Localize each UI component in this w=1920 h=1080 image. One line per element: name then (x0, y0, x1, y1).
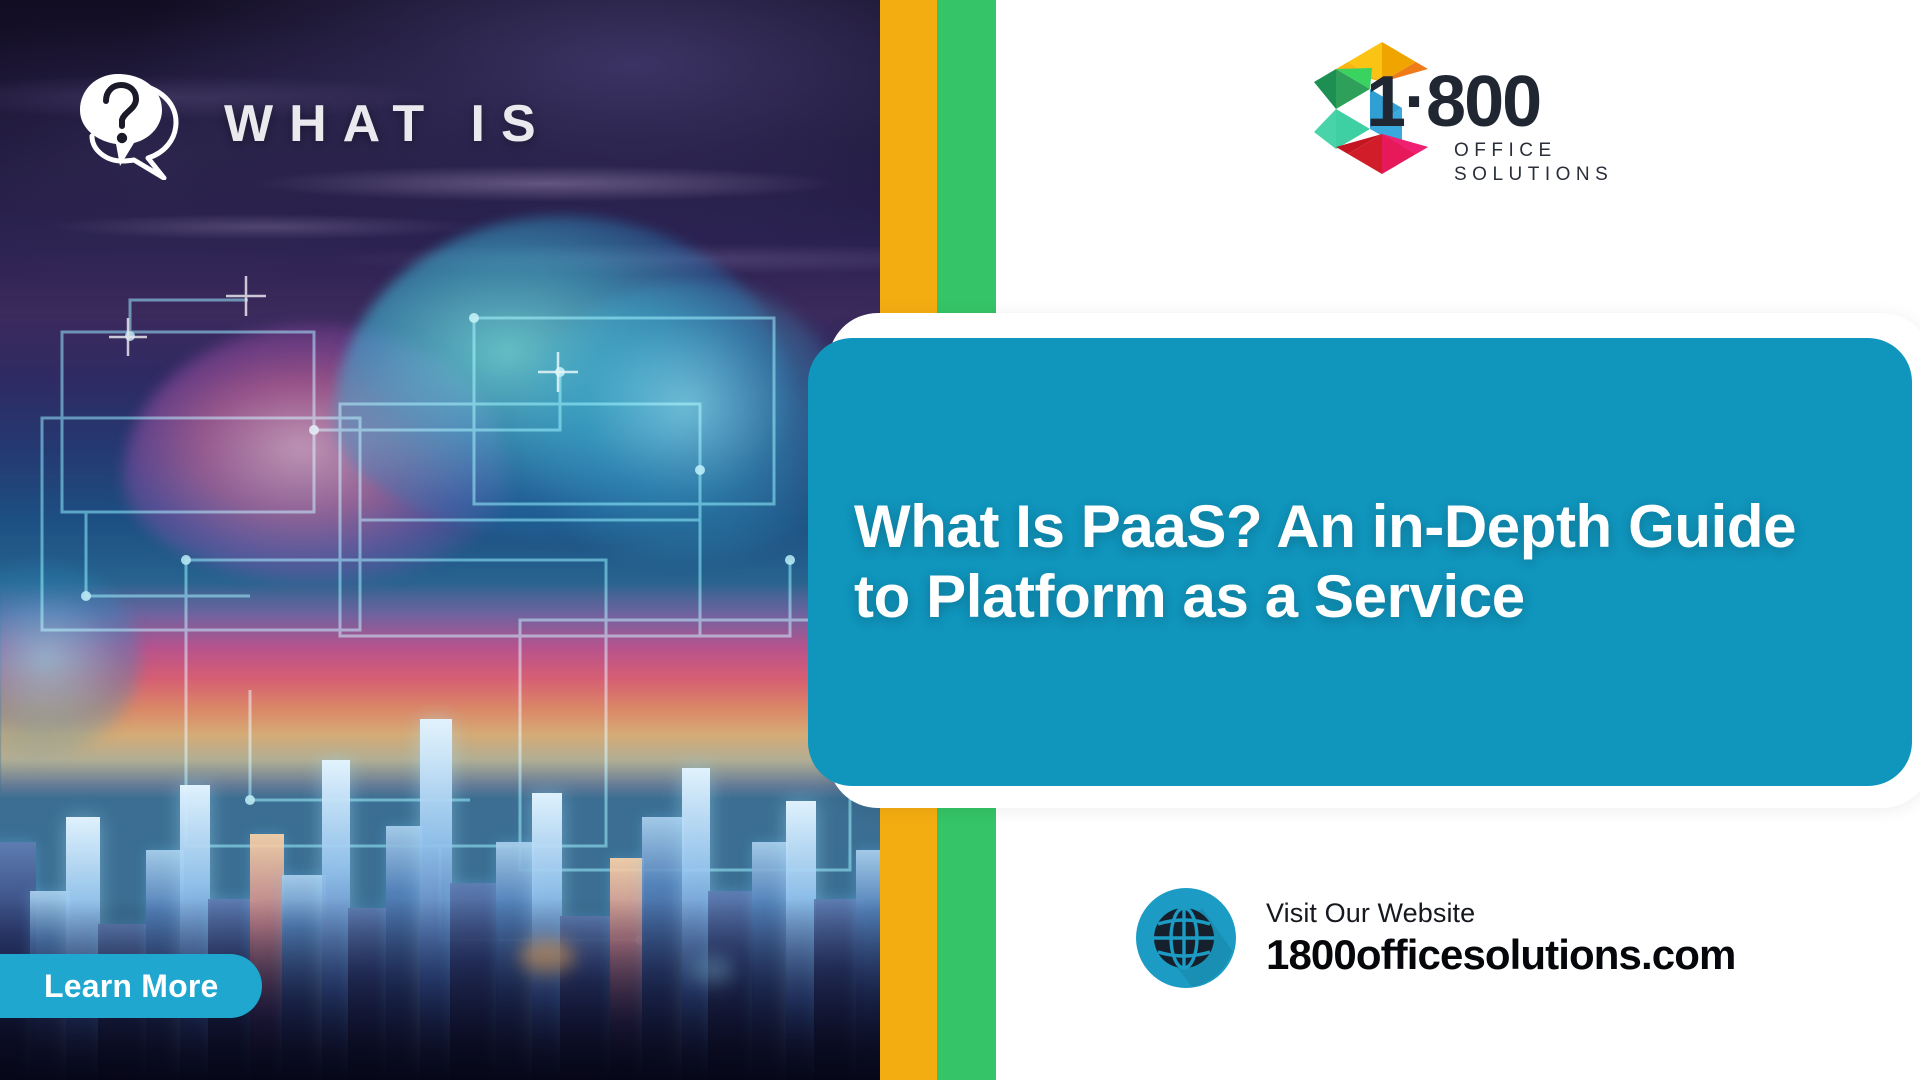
logo-number: 1·800 (1366, 66, 1540, 138)
city-skyline-layer (0, 670, 880, 1080)
hero-image: WHAT IS Learn More (0, 0, 880, 1080)
website-row[interactable]: Visit Our Website 1800officesolutions.co… (1136, 888, 1735, 988)
logo-office-label: OFFICE (1454, 140, 1557, 162)
learn-more-label: Learn More (44, 968, 218, 1005)
website-url[interactable]: 1800officesolutions.com (1266, 932, 1735, 978)
brand-logo[interactable]: 1·800 OFFICE SOLUTIONS (1306, 22, 1618, 192)
what-is-label: WHAT IS (224, 98, 552, 150)
website-text: Visit Our Website 1800officesolutions.co… (1266, 898, 1735, 978)
what-is-header: WHAT IS (72, 68, 552, 180)
learn-more-button[interactable]: Learn More (0, 954, 262, 1018)
visit-our-website-label: Visit Our Website (1266, 898, 1735, 930)
title-card: What Is PaaS? An in-Depth Guide to Platf… (808, 338, 1912, 786)
logo-solutions-label: SOLUTIONS (1454, 164, 1613, 186)
globe-icon (1136, 888, 1236, 988)
banner-canvas: WHAT IS Learn More (0, 0, 1920, 1080)
question-speech-bubble-icon (72, 68, 190, 180)
right-content-panel: 1·800 OFFICE SOLUTIONS What Is PaaS? An … (996, 0, 1920, 1080)
page-title: What Is PaaS? An in-Depth Guide to Platf… (854, 492, 1864, 631)
